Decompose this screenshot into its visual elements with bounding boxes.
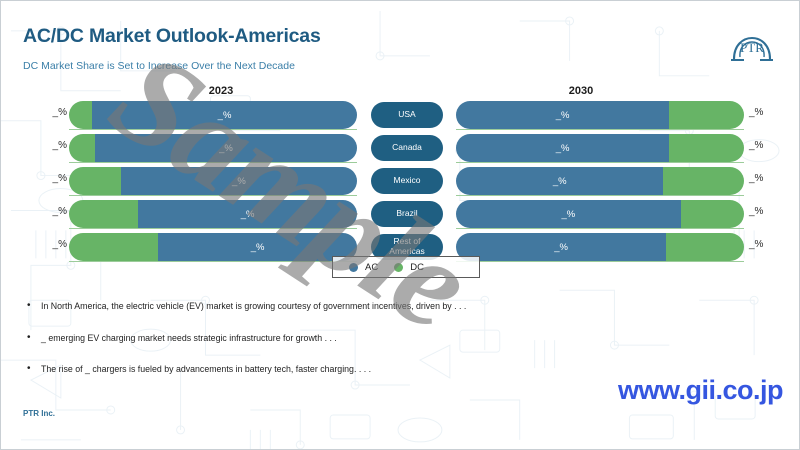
bar-segment-dc-2030[interactable] [669, 101, 744, 129]
bar-segment-ac-2023[interactable]: _% [138, 200, 357, 228]
legend-label-ac: AC [365, 262, 378, 273]
bar-2030: _% [456, 101, 744, 130]
bar-segment-ac-2023[interactable]: _% [92, 101, 357, 129]
table-row: _%_%Mexico_%_% [1, 167, 800, 197]
bar-segment-ac-2030[interactable]: _% [456, 200, 681, 228]
bar-2030: _% [456, 233, 744, 262]
left-axis-value-label: _% [47, 239, 67, 250]
ptr-logo-text: PTR [740, 40, 764, 55]
left-axis-value-label: _% [47, 206, 67, 217]
bar-segment-dc-2030[interactable] [666, 233, 744, 261]
bar-segment-ac-2030[interactable]: _% [456, 134, 669, 162]
category-pill-usa[interactable]: USA [371, 102, 443, 128]
legend-swatch-ac-icon [349, 263, 358, 272]
bar-segment-dc-2023[interactable] [69, 233, 158, 261]
list-item: _ emerging EV charging market needs stra… [25, 333, 625, 344]
category-pill-brazil[interactable]: Brazil [371, 201, 443, 227]
footer-brand: PTR Inc. [23, 409, 55, 418]
table-row: _%_%Brazil_%_% [1, 200, 800, 230]
bar-segment-dc-2030[interactable] [663, 167, 744, 195]
chart-rows: _%_%USA_%_%_%_%Canada_%_%_%_%Mexico_%_%_… [1, 101, 800, 266]
bar-2030: _% [456, 200, 744, 229]
right-axis-value-label: _% [749, 107, 773, 118]
right-axis-value-label: _% [749, 206, 773, 217]
table-row: _%_%Canada_%_% [1, 134, 800, 164]
bar-2023: _% [69, 200, 357, 229]
bar-segment-dc-2030[interactable] [669, 134, 744, 162]
bar-segment-dc-2023[interactable] [69, 200, 138, 228]
left-axis-value-label: _% [47, 140, 67, 151]
table-row: _%_%USA_%_% [1, 101, 800, 131]
right-axis-value-label: _% [749, 173, 773, 184]
category-pill-canada[interactable]: Canada [371, 135, 443, 161]
year-header-left: 2023 [141, 85, 301, 97]
bar-2030: _% [456, 167, 744, 196]
list-item: The rise of _ chargers is fueled by adva… [25, 364, 625, 375]
page-subtitle: DC Market Share is Set to Increase Over … [23, 60, 295, 72]
bar-segment-dc-2023[interactable] [69, 101, 92, 129]
category-pill-mexico[interactable]: Mexico [371, 168, 443, 194]
right-axis-value-label: _% [749, 140, 773, 151]
insight-bullet-list: In North America, the electric vehicle (… [25, 301, 625, 396]
bar-2023: _% [69, 134, 357, 163]
legend-item-ac[interactable]: AC [349, 262, 378, 273]
bar-segment-ac-2030[interactable]: _% [456, 233, 666, 261]
right-axis-value-label: _% [749, 239, 773, 250]
legend-item-dc[interactable]: DC [394, 262, 424, 273]
year-header-right: 2030 [501, 85, 661, 97]
legend-label-dc: DC [410, 262, 424, 273]
bar-2023: _% [69, 101, 357, 130]
bar-segment-ac-2030[interactable]: _% [456, 167, 663, 195]
bar-segment-ac-2023[interactable]: _% [121, 167, 357, 195]
bar-segment-dc-2023[interactable] [69, 134, 95, 162]
bar-segment-dc-2030[interactable] [681, 200, 744, 228]
market-share-chart: 2023 2030 _%_%USA_%_%_%_%Canada_%_%_%_%M… [1, 85, 800, 265]
chart-legend: AC DC [332, 256, 480, 278]
left-axis-value-label: _% [47, 107, 67, 118]
site-url: www.gii.co.jp [618, 375, 783, 406]
bar-2030: _% [456, 134, 744, 163]
bar-segment-ac-2023[interactable]: _% [158, 233, 357, 261]
bar-2023: _% [69, 167, 357, 196]
slide-header: AC/DC Market Outlook-Americas DC Market … [1, 1, 800, 83]
left-axis-value-label: _% [47, 173, 67, 184]
list-item: In North America, the electric vehicle (… [25, 301, 625, 312]
bar-segment-ac-2030[interactable]: _% [456, 101, 669, 129]
slide: AC/DC Market Outlook-Americas DC Market … [0, 0, 800, 450]
page-title: AC/DC Market Outlook-Americas [23, 25, 321, 48]
legend-swatch-dc-icon [394, 263, 403, 272]
bar-segment-dc-2023[interactable] [69, 167, 121, 195]
bar-segment-ac-2023[interactable]: _% [95, 134, 357, 162]
bar-2023: _% [69, 233, 357, 262]
ptr-omega-logo-icon: PTR [725, 15, 779, 67]
